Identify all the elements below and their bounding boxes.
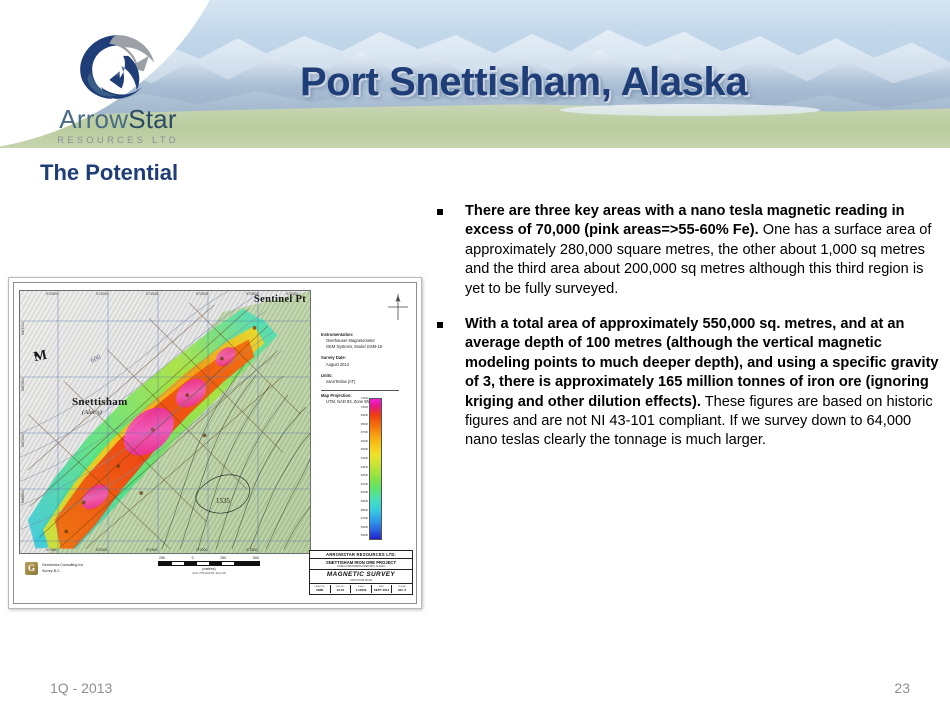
map-xtick-bottom: 571000 xyxy=(96,548,107,552)
scale-note: Grid: UTM NAD 83, Zone 8N xyxy=(149,572,269,575)
colorbar-tick: 56000 xyxy=(355,527,368,530)
map-ytick: 6470000 xyxy=(21,434,25,447)
footer-page-number: 23 xyxy=(894,680,910,696)
brand-tagline: RESOURCES LTD xyxy=(28,135,208,146)
banner-lake xyxy=(560,104,820,116)
title-block-project-row: SNETTISHAM IRON ORE PROJECT JUNEAU RECOR… xyxy=(310,559,412,570)
colorbar-tick: 69000 xyxy=(355,415,368,418)
colorbar-tick: 64000 xyxy=(355,458,368,461)
map-info-survey-date: Survey Date: August 2012 xyxy=(321,355,399,367)
scale-label: 0 xyxy=(192,556,194,560)
scale-label: 250 xyxy=(159,556,165,560)
footer-date: 1Q - 2013 xyxy=(50,680,112,696)
title-block-title-row: MAGNETIC SURVEY CONTOUR PLAN xyxy=(310,570,412,584)
map-xtick-bottom: 571500 xyxy=(146,548,157,552)
map-xtick: 571000 xyxy=(96,292,109,296)
title-block-meta-cell: SCALE: 1:10000 xyxy=(351,585,372,593)
map-ytick: 6469500 xyxy=(21,490,25,503)
meta-value: NO. 3 xyxy=(392,588,412,592)
instrumentation-line2: GEM Systems, Model GSM-19 xyxy=(321,344,399,350)
map-ytick: 6470500 xyxy=(21,378,25,391)
slide-subtitle: The Potential xyxy=(40,160,178,186)
scale-units: (metres) xyxy=(149,567,269,571)
title-block-meta-cell: DATE: SEPT 2012 xyxy=(372,585,393,593)
colorbar-gradient xyxy=(369,398,382,540)
map-xtick: 572000 xyxy=(196,292,209,296)
map-info-instrumentation: Instrumentation: Overhauser Magnetometer… xyxy=(321,332,399,350)
title-block-map-title: MAGNETIC SURVEY xyxy=(310,571,412,578)
map-xtick: 572500 xyxy=(246,292,259,296)
credit-line2: Surrey B.C. xyxy=(42,569,83,574)
map-info-divider xyxy=(321,390,399,391)
colorbar-tick: 61000 xyxy=(355,484,368,487)
colorbar-tick: 71000 xyxy=(355,398,368,401)
colorbar-tick: 55000 xyxy=(355,535,368,538)
brand-name-part1: Arrow xyxy=(59,104,128,134)
brand-name-part2: Star xyxy=(128,104,176,134)
colorbar-tick: 65000 xyxy=(355,449,368,452)
map-scale-bar: 250 0 250 500 (metres) Grid: UTM NAD 83,… xyxy=(149,556,269,575)
map-credit-text: Geotronics Consulting Inc Surrey B.C. xyxy=(42,563,83,573)
map-xtick-bottom: 572000 xyxy=(196,548,207,552)
map-label-snettisham-sub: (Alec's) xyxy=(82,409,102,416)
title-block-location: JUNEAU RECORDING PRECINCT, ALASKA xyxy=(310,565,412,568)
geotronics-g-logo: G xyxy=(25,562,38,575)
title-block-meta-row: DRAWN BY: DMB DWG NO.: 12-01 SCALE: 1:10… xyxy=(310,584,412,594)
map-ytick: 6471000 xyxy=(21,322,25,335)
bullet-text: With a total area of approximately 550,0… xyxy=(465,315,942,451)
colorbar-tick: 58000 xyxy=(355,510,368,513)
credit-line1: Geotronics Consulting Inc xyxy=(42,563,83,568)
colorbar-tick-labels: 71000 70000 69000 68000 67000 66000 6500… xyxy=(355,398,368,538)
header-banner: ArrowStar RESOURCES LTD Port Snettisham,… xyxy=(0,0,950,148)
title-block-meta-cell: FIGURE: NO. 3 xyxy=(392,585,412,593)
meta-value: 12-01 xyxy=(331,588,351,592)
meta-value: SEPT 2012 xyxy=(372,588,392,592)
units-value: nanoTeslas (nT) xyxy=(321,379,399,385)
map-title-block: ARROWSTAR RESOURCES LTD. SNETTISHAM IRON… xyxy=(309,550,413,595)
colorbar-tick: 59000 xyxy=(355,501,368,504)
map-plot-area: 600 1535 Sentinel Pt Snettisham (Alec's)… xyxy=(19,290,311,554)
scale-bar-labels: 250 0 250 500 xyxy=(159,556,259,560)
square-bullet-icon xyxy=(437,315,465,451)
map-xtick: 570500 xyxy=(46,292,59,296)
brand-logo: ArrowStar RESOURCES LTD xyxy=(28,30,208,148)
map-info-units: Units: nanoTeslas (nT) xyxy=(321,373,399,385)
meta-value: DMB xyxy=(310,588,330,592)
map-label-snettisham: Snettisham xyxy=(72,396,128,408)
colorbar-tick: 60000 xyxy=(355,492,368,495)
bullet-text: There are three key areas with a nano te… xyxy=(465,202,942,299)
arrowstar-swirl-logo xyxy=(75,30,161,104)
bullet-item: With a total area of approximately 550,0… xyxy=(437,315,942,451)
slide: ArrowStar RESOURCES LTD Port Snettisham,… xyxy=(0,0,950,709)
map-credit: G Geotronics Consulting Inc Surrey B.C. xyxy=(25,562,83,575)
magnetic-intensity-colorbar: 71000 70000 69000 68000 67000 66000 6500… xyxy=(355,398,391,538)
bullet-item: There are three key areas with a nano te… xyxy=(437,202,942,299)
scale-bar-segments xyxy=(158,561,260,566)
north-arrow-icon xyxy=(387,294,409,320)
colorbar-tick: 68000 xyxy=(355,424,368,427)
title-block-company: ARROWSTAR RESOURCES LTD. xyxy=(310,551,412,559)
colorbar-tick: 66000 xyxy=(355,441,368,444)
square-bullet-icon xyxy=(437,202,465,299)
body-text-column: There are three key areas with a nano te… xyxy=(437,202,942,467)
magnetic-survey-map-figure[interactable]: 600 1535 Sentinel Pt Snettisham (Alec's)… xyxy=(8,277,422,609)
page-title: Port Snettisham, Alaska xyxy=(300,60,747,105)
brand-wordmark: ArrowStar xyxy=(28,106,208,132)
survey-date-value: August 2012 xyxy=(321,362,399,368)
colorbar-tick: 70000 xyxy=(355,407,368,410)
colorbar-tick: 62000 xyxy=(355,475,368,478)
map-xtick-bottom: 572500 xyxy=(246,548,257,552)
colorbar-tick: 63000 xyxy=(355,467,368,470)
colorbar-tick: 67000 xyxy=(355,432,368,435)
map-xtick: 571500 xyxy=(146,292,159,296)
map-xtick: 573000 xyxy=(286,292,299,296)
title-block-map-subtitle: CONTOUR PLAN xyxy=(310,578,412,582)
scale-label: 500 xyxy=(253,556,259,560)
map-xtick-bottom: 570500 xyxy=(46,548,57,552)
scale-label: 250 xyxy=(220,556,226,560)
title-block-meta-cell: DWG NO.: 12-01 xyxy=(331,585,352,593)
meta-value: 1:10000 xyxy=(351,588,371,592)
colorbar-tick: 57000 xyxy=(355,518,368,521)
title-block-meta-cell: DRAWN BY: DMB xyxy=(310,585,331,593)
